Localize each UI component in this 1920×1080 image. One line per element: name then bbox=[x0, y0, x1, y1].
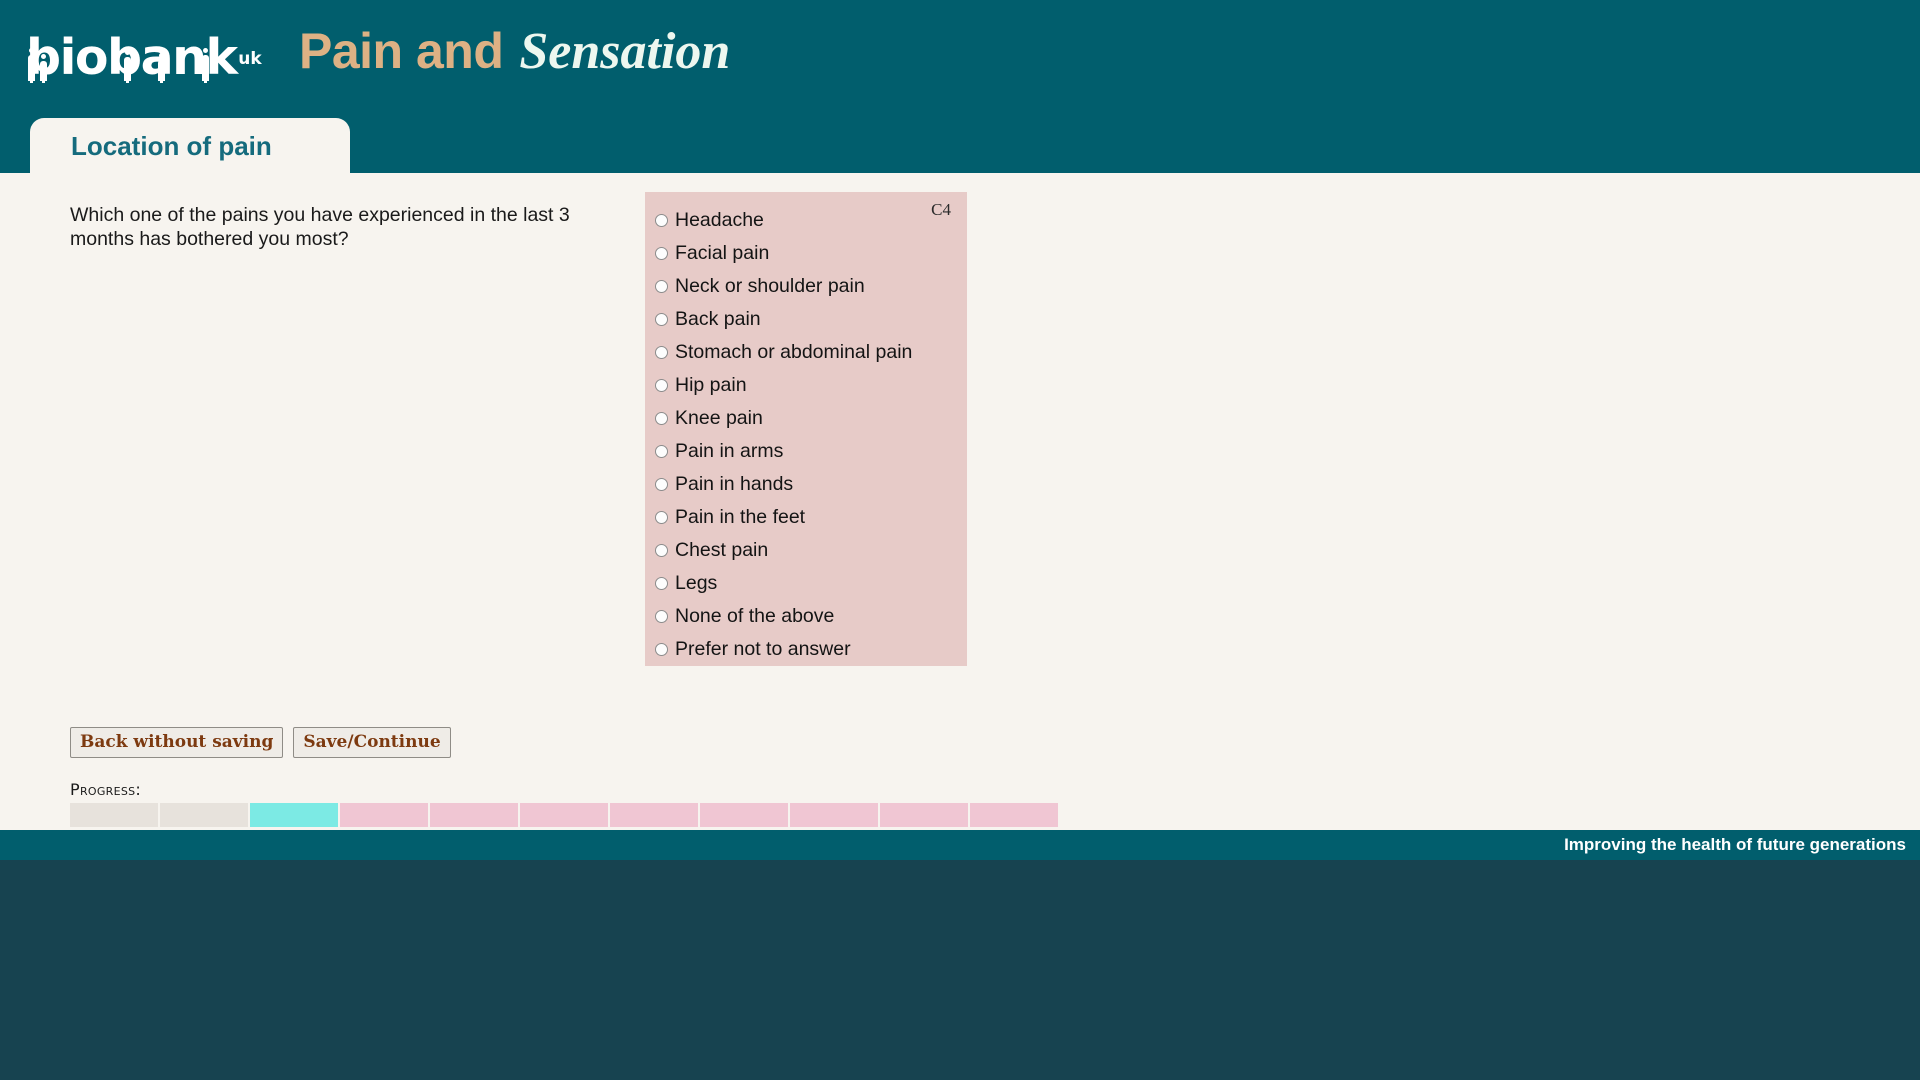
radio-option-label: Stomach or abdominal pain bbox=[675, 342, 912, 362]
progress-segment-todo bbox=[430, 803, 518, 827]
radio-option-row[interactable]: Facial pain bbox=[655, 236, 961, 269]
form-button-bar: Back without saving Save/Continue bbox=[70, 727, 451, 758]
radio-button-icon[interactable] bbox=[655, 610, 668, 623]
radio-button-icon[interactable] bbox=[655, 379, 668, 392]
page-title: Pain andSensation bbox=[299, 22, 730, 81]
page-header: biobank uk Pain andSensation Location of… bbox=[0, 0, 1920, 173]
progress-segment-todo bbox=[340, 803, 428, 827]
radio-option-row[interactable]: Pain in hands bbox=[655, 467, 961, 500]
back-without-saving-button[interactable]: Back without saving bbox=[70, 727, 283, 758]
radio-button-icon[interactable] bbox=[655, 247, 668, 260]
radio-button-icon[interactable] bbox=[655, 445, 668, 458]
progress-bar bbox=[70, 803, 1058, 827]
radio-option-label: Pain in arms bbox=[675, 441, 783, 461]
radio-option-row[interactable]: Hip pain bbox=[655, 368, 961, 401]
radio-option-row[interactable]: Neck or shoulder pain bbox=[655, 269, 961, 302]
progress-segment-todo bbox=[700, 803, 788, 827]
person-figure-icon bbox=[202, 55, 209, 81]
radio-button-icon[interactable] bbox=[655, 346, 668, 359]
radio-option-row[interactable]: None of the above bbox=[655, 599, 961, 632]
question-prompt: Which one of the pains you have experien… bbox=[70, 203, 600, 251]
radio-option-label: Back pain bbox=[675, 309, 761, 329]
progress-segment-done bbox=[160, 803, 248, 827]
radio-option-row[interactable]: Legs bbox=[655, 566, 961, 599]
page-footer: Improving the health of future generatio… bbox=[0, 830, 1920, 860]
logo-wordmark-text: biobank uk bbox=[26, 33, 237, 82]
save-continue-button[interactable]: Save/Continue bbox=[293, 727, 450, 758]
radio-button-icon[interactable] bbox=[655, 577, 668, 590]
radio-option-label: Hip pain bbox=[675, 375, 747, 395]
radio-option-row[interactable]: Pain in the feet bbox=[655, 500, 961, 533]
progress-segment-done bbox=[70, 803, 158, 827]
progress-segment-todo bbox=[610, 803, 698, 827]
radio-button-icon[interactable] bbox=[655, 478, 668, 491]
person-figure-icon bbox=[28, 55, 35, 81]
progress-segment-todo bbox=[520, 803, 608, 827]
radio-option-list: HeadacheFacial painNeck or shoulder pain… bbox=[655, 203, 961, 665]
radio-option-label: Chest pain bbox=[675, 540, 768, 560]
progress-segment-todo bbox=[970, 803, 1058, 827]
radio-option-row[interactable]: Back pain bbox=[655, 302, 961, 335]
footer-tagline: Improving the health of future generatio… bbox=[1564, 835, 1906, 855]
footer-background-fill bbox=[0, 860, 1920, 1080]
radio-option-row[interactable]: Chest pain bbox=[655, 533, 961, 566]
radio-option-label: None of the above bbox=[675, 606, 834, 626]
logo-uk-superscript: uk bbox=[238, 35, 261, 84]
person-figure-icon bbox=[158, 60, 165, 81]
radio-button-icon[interactable] bbox=[655, 313, 668, 326]
tab-label: Location of pain bbox=[71, 131, 272, 162]
progress-segment-todo bbox=[880, 803, 968, 827]
radio-option-label: Knee pain bbox=[675, 408, 763, 428]
radio-button-icon[interactable] bbox=[655, 280, 668, 293]
radio-option-label: Pain in hands bbox=[675, 474, 793, 494]
radio-button-icon[interactable] bbox=[655, 511, 668, 524]
tab-location-of-pain[interactable]: Location of pain bbox=[30, 118, 350, 173]
radio-option-row[interactable]: Prefer not to answer bbox=[655, 632, 961, 665]
radio-button-icon[interactable] bbox=[655, 643, 668, 656]
radio-option-row[interactable]: Knee pain bbox=[655, 401, 961, 434]
progress-segment-current bbox=[250, 803, 338, 827]
radio-option-label: Headache bbox=[675, 210, 764, 230]
radio-button-icon[interactable] bbox=[655, 412, 668, 425]
title-primary: Pain and bbox=[299, 23, 503, 79]
radio-option-label: Pain in the feet bbox=[675, 507, 805, 527]
radio-button-icon[interactable] bbox=[655, 544, 668, 557]
biobank-logo[interactable]: biobank uk bbox=[26, 26, 237, 82]
person-figure-icon bbox=[124, 57, 131, 81]
progress-label: Progress: bbox=[70, 780, 141, 799]
radio-option-label: Facial pain bbox=[675, 243, 769, 263]
person-figure-icon bbox=[40, 61, 47, 81]
answer-options-panel: C4 HeadacheFacial painNeck or shoulder p… bbox=[645, 192, 967, 666]
radio-option-label: Neck or shoulder pain bbox=[675, 276, 865, 296]
radio-option-row[interactable]: Pain in arms bbox=[655, 434, 961, 467]
radio-option-label: Legs bbox=[675, 573, 717, 593]
radio-option-row[interactable]: Stomach or abdominal pain bbox=[655, 335, 961, 368]
radio-option-label: Prefer not to answer bbox=[675, 639, 851, 659]
radio-option-row[interactable]: Headache bbox=[655, 203, 961, 236]
title-secondary: Sensation bbox=[519, 23, 730, 80]
progress-segment-todo bbox=[790, 803, 878, 827]
radio-button-icon[interactable] bbox=[655, 214, 668, 227]
